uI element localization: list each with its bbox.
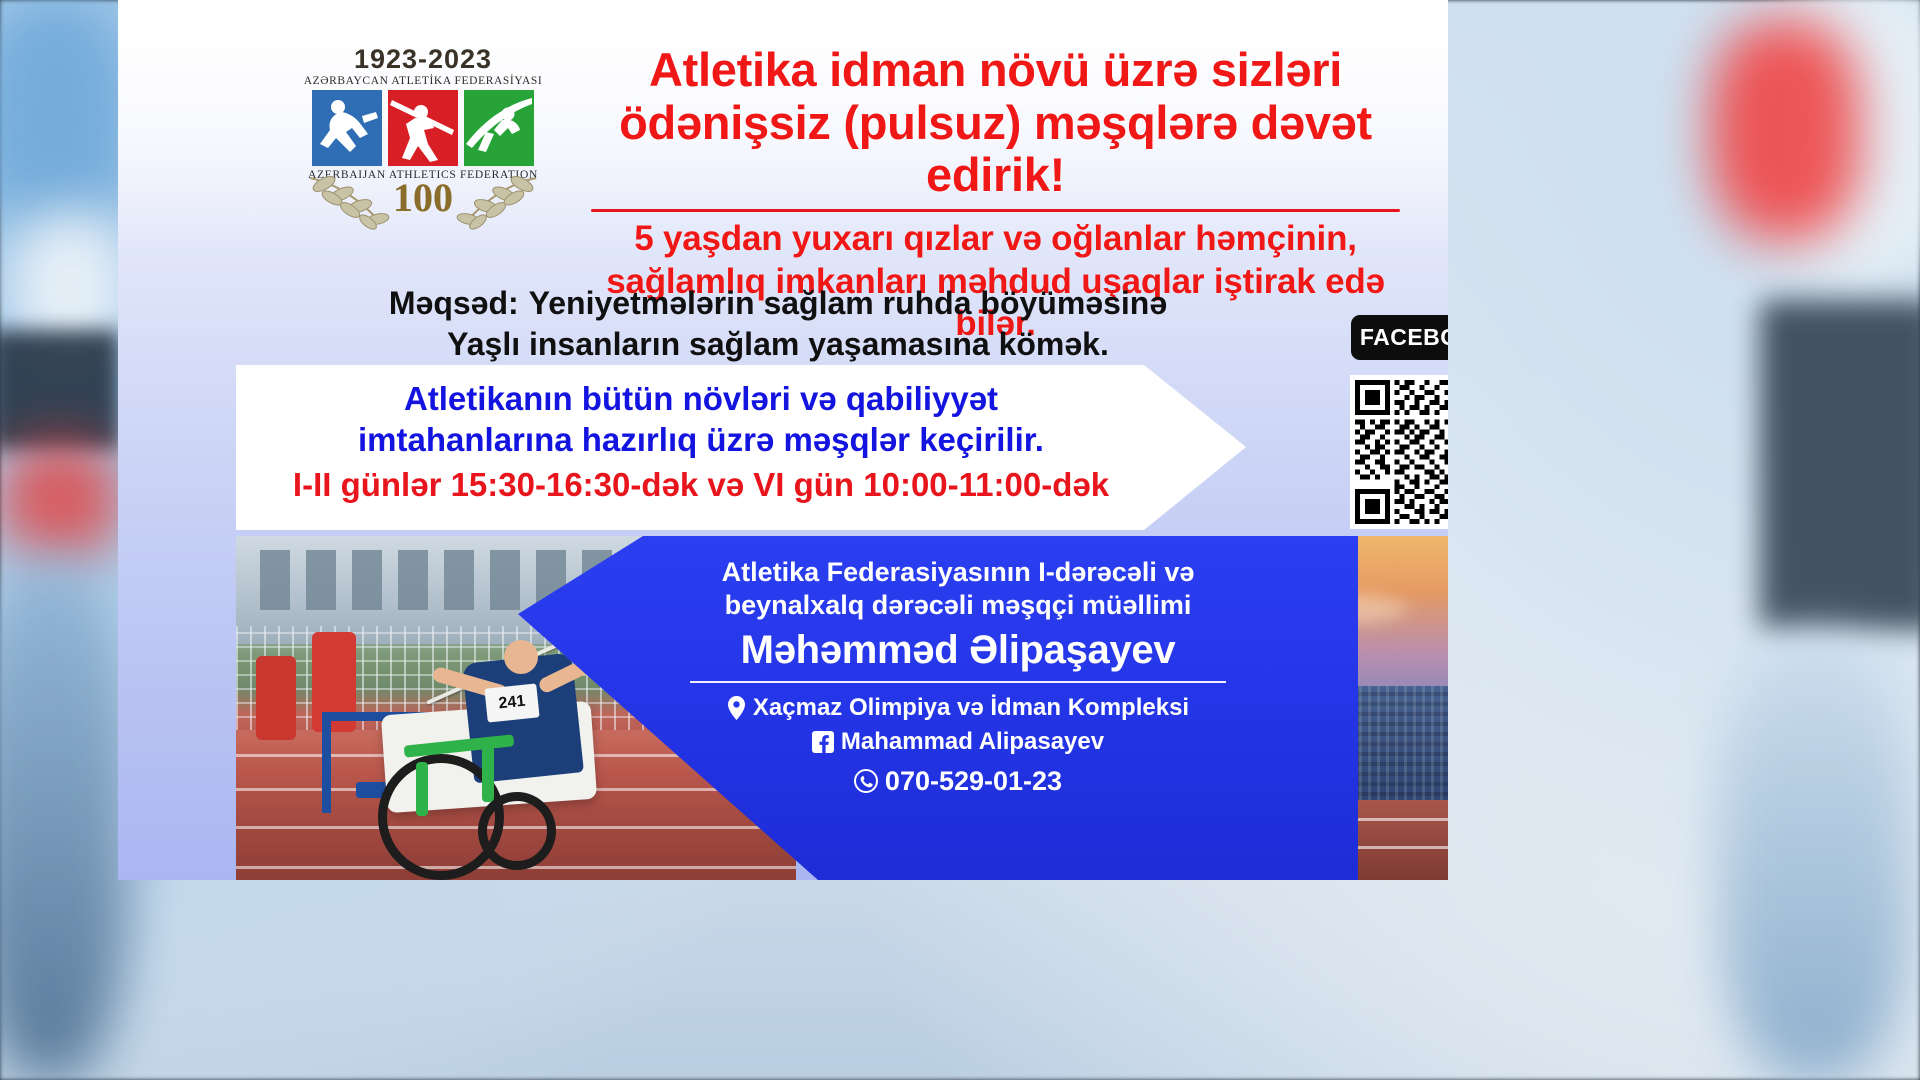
- athlete-bib-number: 241: [484, 683, 539, 722]
- poster-root: 1923-2023 AZƏRBAYCAN ATLETİKA FEDERASİYA…: [0, 0, 1920, 1080]
- location-pin-icon: [727, 696, 746, 720]
- purpose-label: Məqsəd:: [389, 285, 519, 321]
- facebook-icon: [812, 731, 834, 753]
- facebook-badge[interactable]: FACEBOOK: [1351, 315, 1448, 360]
- logo-tile-polevault: [464, 90, 534, 166]
- facebook-qr-code[interactable]: [1350, 375, 1448, 529]
- program-banner: Atletikanın bütün növləri və qabiliyyət …: [236, 365, 1246, 530]
- phone-number: 070-529-01-23: [885, 762, 1062, 800]
- coach-role-line-1: Atletika Federasiyasının I-dərəcəli və: [628, 556, 1288, 589]
- program-line-2: imtahanlarına hazırlıq üzrə məşqlər keçi…: [236, 420, 1166, 461]
- whatsapp-icon: [854, 769, 878, 793]
- purpose-block: Məqsəd:Yeniyetmələrin sağlam ruhda böyüm…: [278, 283, 1278, 365]
- venue-row: Xaçmaz Olimpiya və İdman Kompleksi: [628, 691, 1288, 725]
- program-schedule: I-II günlər 15:30-16:30-dək və VI gün 10…: [236, 465, 1166, 506]
- qr-code-icon: [1355, 380, 1448, 524]
- program-banner-text: Atletikanın bütün növləri və qabiliyyət …: [236, 379, 1166, 506]
- wheelchair: [386, 748, 546, 868]
- program-line-1: Atletikanın bütün növləri və qabiliyyət: [236, 379, 1166, 420]
- logo-tile-sprinter: [312, 90, 382, 166]
- coach-name: Məhəmməd Əlipaşayev: [628, 626, 1288, 674]
- logo-tile-javelin: [388, 90, 458, 166]
- headline-line-2: ödənişsiz (pulsuz) məşqlərə dəvət edirik…: [573, 97, 1418, 202]
- headline-divider: [591, 209, 1400, 212]
- facebook-name: Mahammad Alipasayev: [841, 725, 1104, 759]
- logo-years: 1923-2023: [298, 46, 548, 73]
- phone-row[interactable]: 070-529-01-23: [628, 762, 1288, 800]
- facebook-badge-label: FACEBOOK: [1360, 324, 1448, 351]
- laurel-wreath-icon: [298, 164, 548, 236]
- purpose-line-1: Yeniyetmələrin sağlam ruhda böyüməsinə: [529, 285, 1167, 321]
- purpose-line-2: Yaşlı insanların sağlam yaşamasına kömək…: [447, 326, 1109, 362]
- federation-logo: 1923-2023 AZƏRBAYCAN ATLETİKA FEDERASİYA…: [298, 46, 548, 231]
- logo-sport-tiles: [298, 90, 548, 166]
- logo-top-text: AZƏRBAYCAN ATLETİKA FEDERASİYASI: [298, 75, 548, 87]
- facebook-row[interactable]: Mahammad Alipasayev: [628, 725, 1288, 759]
- coach-divider: [690, 681, 1226, 683]
- headline-line-1: Atletika idman növü üzrə sizləri: [573, 44, 1418, 97]
- coach-role-line-2: beynalxalq dərəcəli məşqçi müəllimi: [628, 589, 1288, 622]
- venue-text: Xaçmaz Olimpiya və İdman Kompleksi: [753, 691, 1189, 725]
- flyer-card: 1923-2023 AZƏRBAYCAN ATLETİKA FEDERASİYA…: [118, 0, 1448, 880]
- headline-sub-1: 5 yaşdan yuxarı qızlar və oğlanlar həmçi…: [573, 218, 1418, 261]
